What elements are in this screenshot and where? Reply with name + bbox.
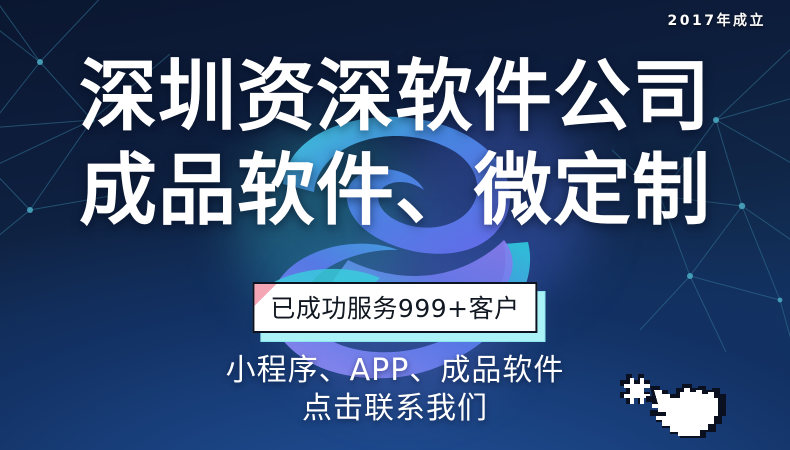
clients-badge: 已成功服务999+客户 xyxy=(252,282,537,333)
established-year: 2017年成立 xyxy=(668,10,766,30)
headline-line-2: 成品软件、微定制 xyxy=(0,152,790,230)
promo-banner: 2017年成立 深圳资深软件公司 成品软件、微定制 已成功服务999+客户 小程… xyxy=(0,0,790,450)
status-badge: 已成功服务999+客户 xyxy=(270,294,519,323)
badge-box: 已成功服务999+客户 xyxy=(252,282,537,333)
headline-line-1: 深圳资深软件公司 xyxy=(0,58,790,136)
subtitle-line-1: 小程序、APP、成品软件 xyxy=(0,352,790,390)
subtitle-block: 小程序、APP、成品软件 点击联系我们 xyxy=(0,352,790,429)
subtitle-line-2[interactable]: 点击联系我们 xyxy=(0,390,790,428)
page-title: 深圳资深软件公司 成品软件、微定制 xyxy=(0,58,790,230)
